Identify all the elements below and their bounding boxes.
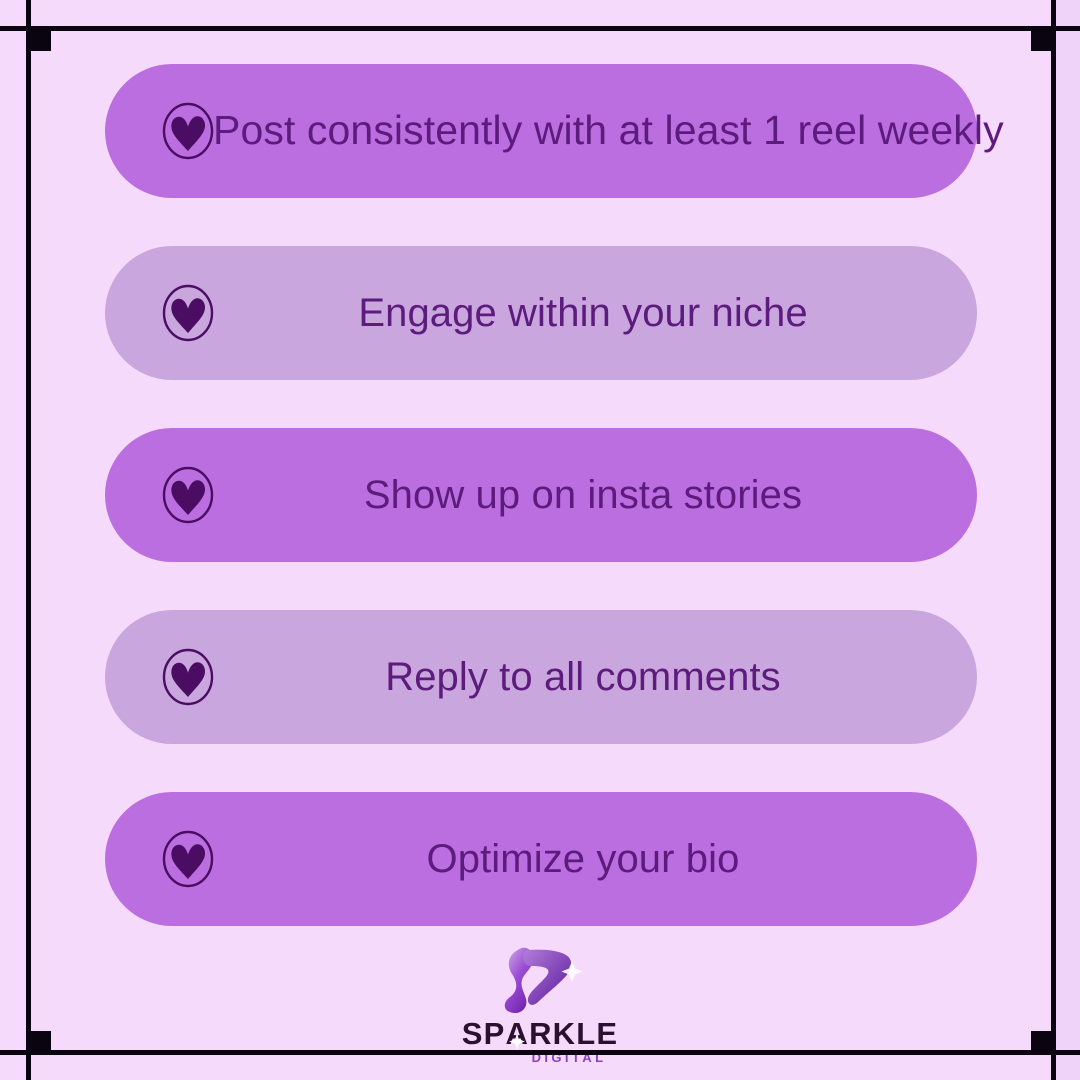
- tip-row-1[interactable]: Post consistently with at least 1 reel w…: [105, 64, 977, 198]
- heart-in-circle-icon: [162, 830, 214, 888]
- crop-mark-square-top-right: [1031, 31, 1051, 51]
- logo-word-part-2: RKLE: [529, 1016, 618, 1051]
- heart-in-circle-icon: [162, 102, 214, 160]
- heart-in-circle-icon: [162, 284, 214, 342]
- logo-subtitle: DIGITAL: [474, 1051, 607, 1064]
- poster-canvas: Post consistently with at least 1 reel w…: [0, 0, 1080, 1080]
- tip-row-4[interactable]: Reply to all comments: [105, 610, 977, 744]
- four-point-star-icon: [509, 1033, 526, 1050]
- brand-logo: SPARKLE DIGITAL: [0, 944, 1080, 1064]
- tips-list: Post consistently with at least 1 reel w…: [105, 64, 977, 926]
- crop-mark-square-top-left: [31, 31, 51, 51]
- crop-mark-line-right: [1051, 0, 1056, 1080]
- crop-mark-line-top: [0, 26, 1080, 31]
- heart-in-circle-icon: [162, 466, 214, 524]
- right-edge-wash: [1056, 0, 1080, 1080]
- tip-row-2[interactable]: Engage within your niche: [105, 246, 977, 380]
- logo-word-a-with-sparkle: A: [505, 1018, 529, 1049]
- heart-in-circle-icon: [162, 648, 214, 706]
- crop-mark-line-left: [26, 0, 31, 1080]
- tip-label: Reply to all comments: [105, 655, 977, 699]
- tip-label: Post consistently with at least 1 reel w…: [105, 108, 977, 153]
- tip-row-5[interactable]: Optimize your bio: [105, 792, 977, 926]
- tip-label: Show up on insta stories: [105, 473, 977, 517]
- sparkle-swoosh-logo-icon: [488, 944, 592, 1016]
- logo-wordmark: SPARKLE: [462, 1018, 619, 1049]
- logo-word-part-1: SP: [462, 1016, 506, 1051]
- tip-label: Optimize your bio: [105, 837, 977, 881]
- tip-row-3[interactable]: Show up on insta stories: [105, 428, 977, 562]
- tip-label: Engage within your niche: [105, 291, 977, 335]
